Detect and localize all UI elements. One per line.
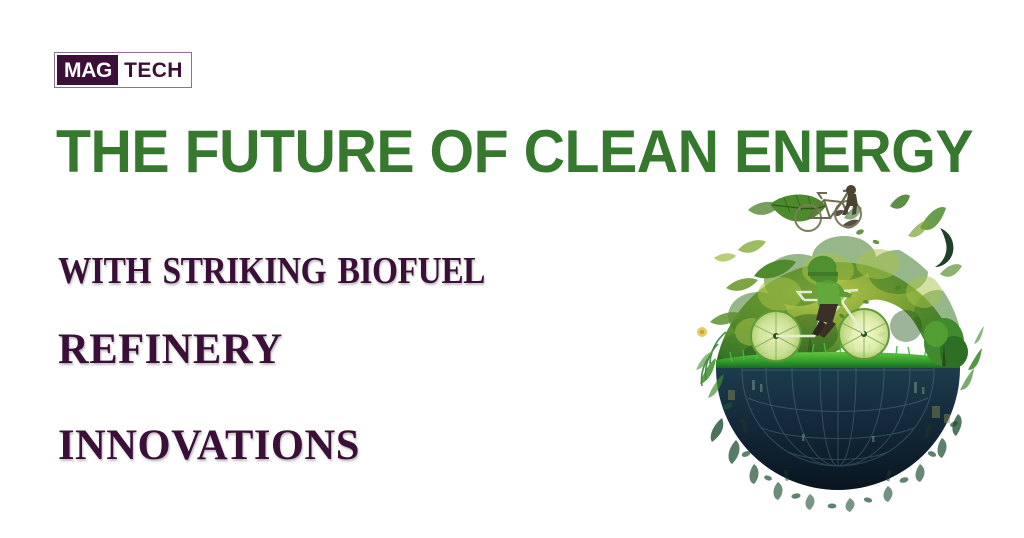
- brand-logo[interactable]: MAG TECH: [54, 52, 192, 88]
- page-title: THE FUTURE OF CLEAN ENERGY: [56, 122, 973, 182]
- crescent-moon-icon: [935, 228, 953, 267]
- logo-mag-block: MAG: [57, 55, 118, 85]
- eco-globe-illustration: [692, 184, 984, 512]
- subtitle-line-3: Innovations: [58, 408, 360, 470]
- banner-root: MAG TECH THE FUTURE OF CLEAN ENERGY With…: [0, 0, 1024, 538]
- subtitle-line-2: Refinery: [58, 312, 283, 374]
- subtitle-line-1: With Striking Biofuel: [58, 238, 485, 292]
- flower-accent: [697, 327, 707, 337]
- logo-tech-text: TECH: [118, 53, 191, 87]
